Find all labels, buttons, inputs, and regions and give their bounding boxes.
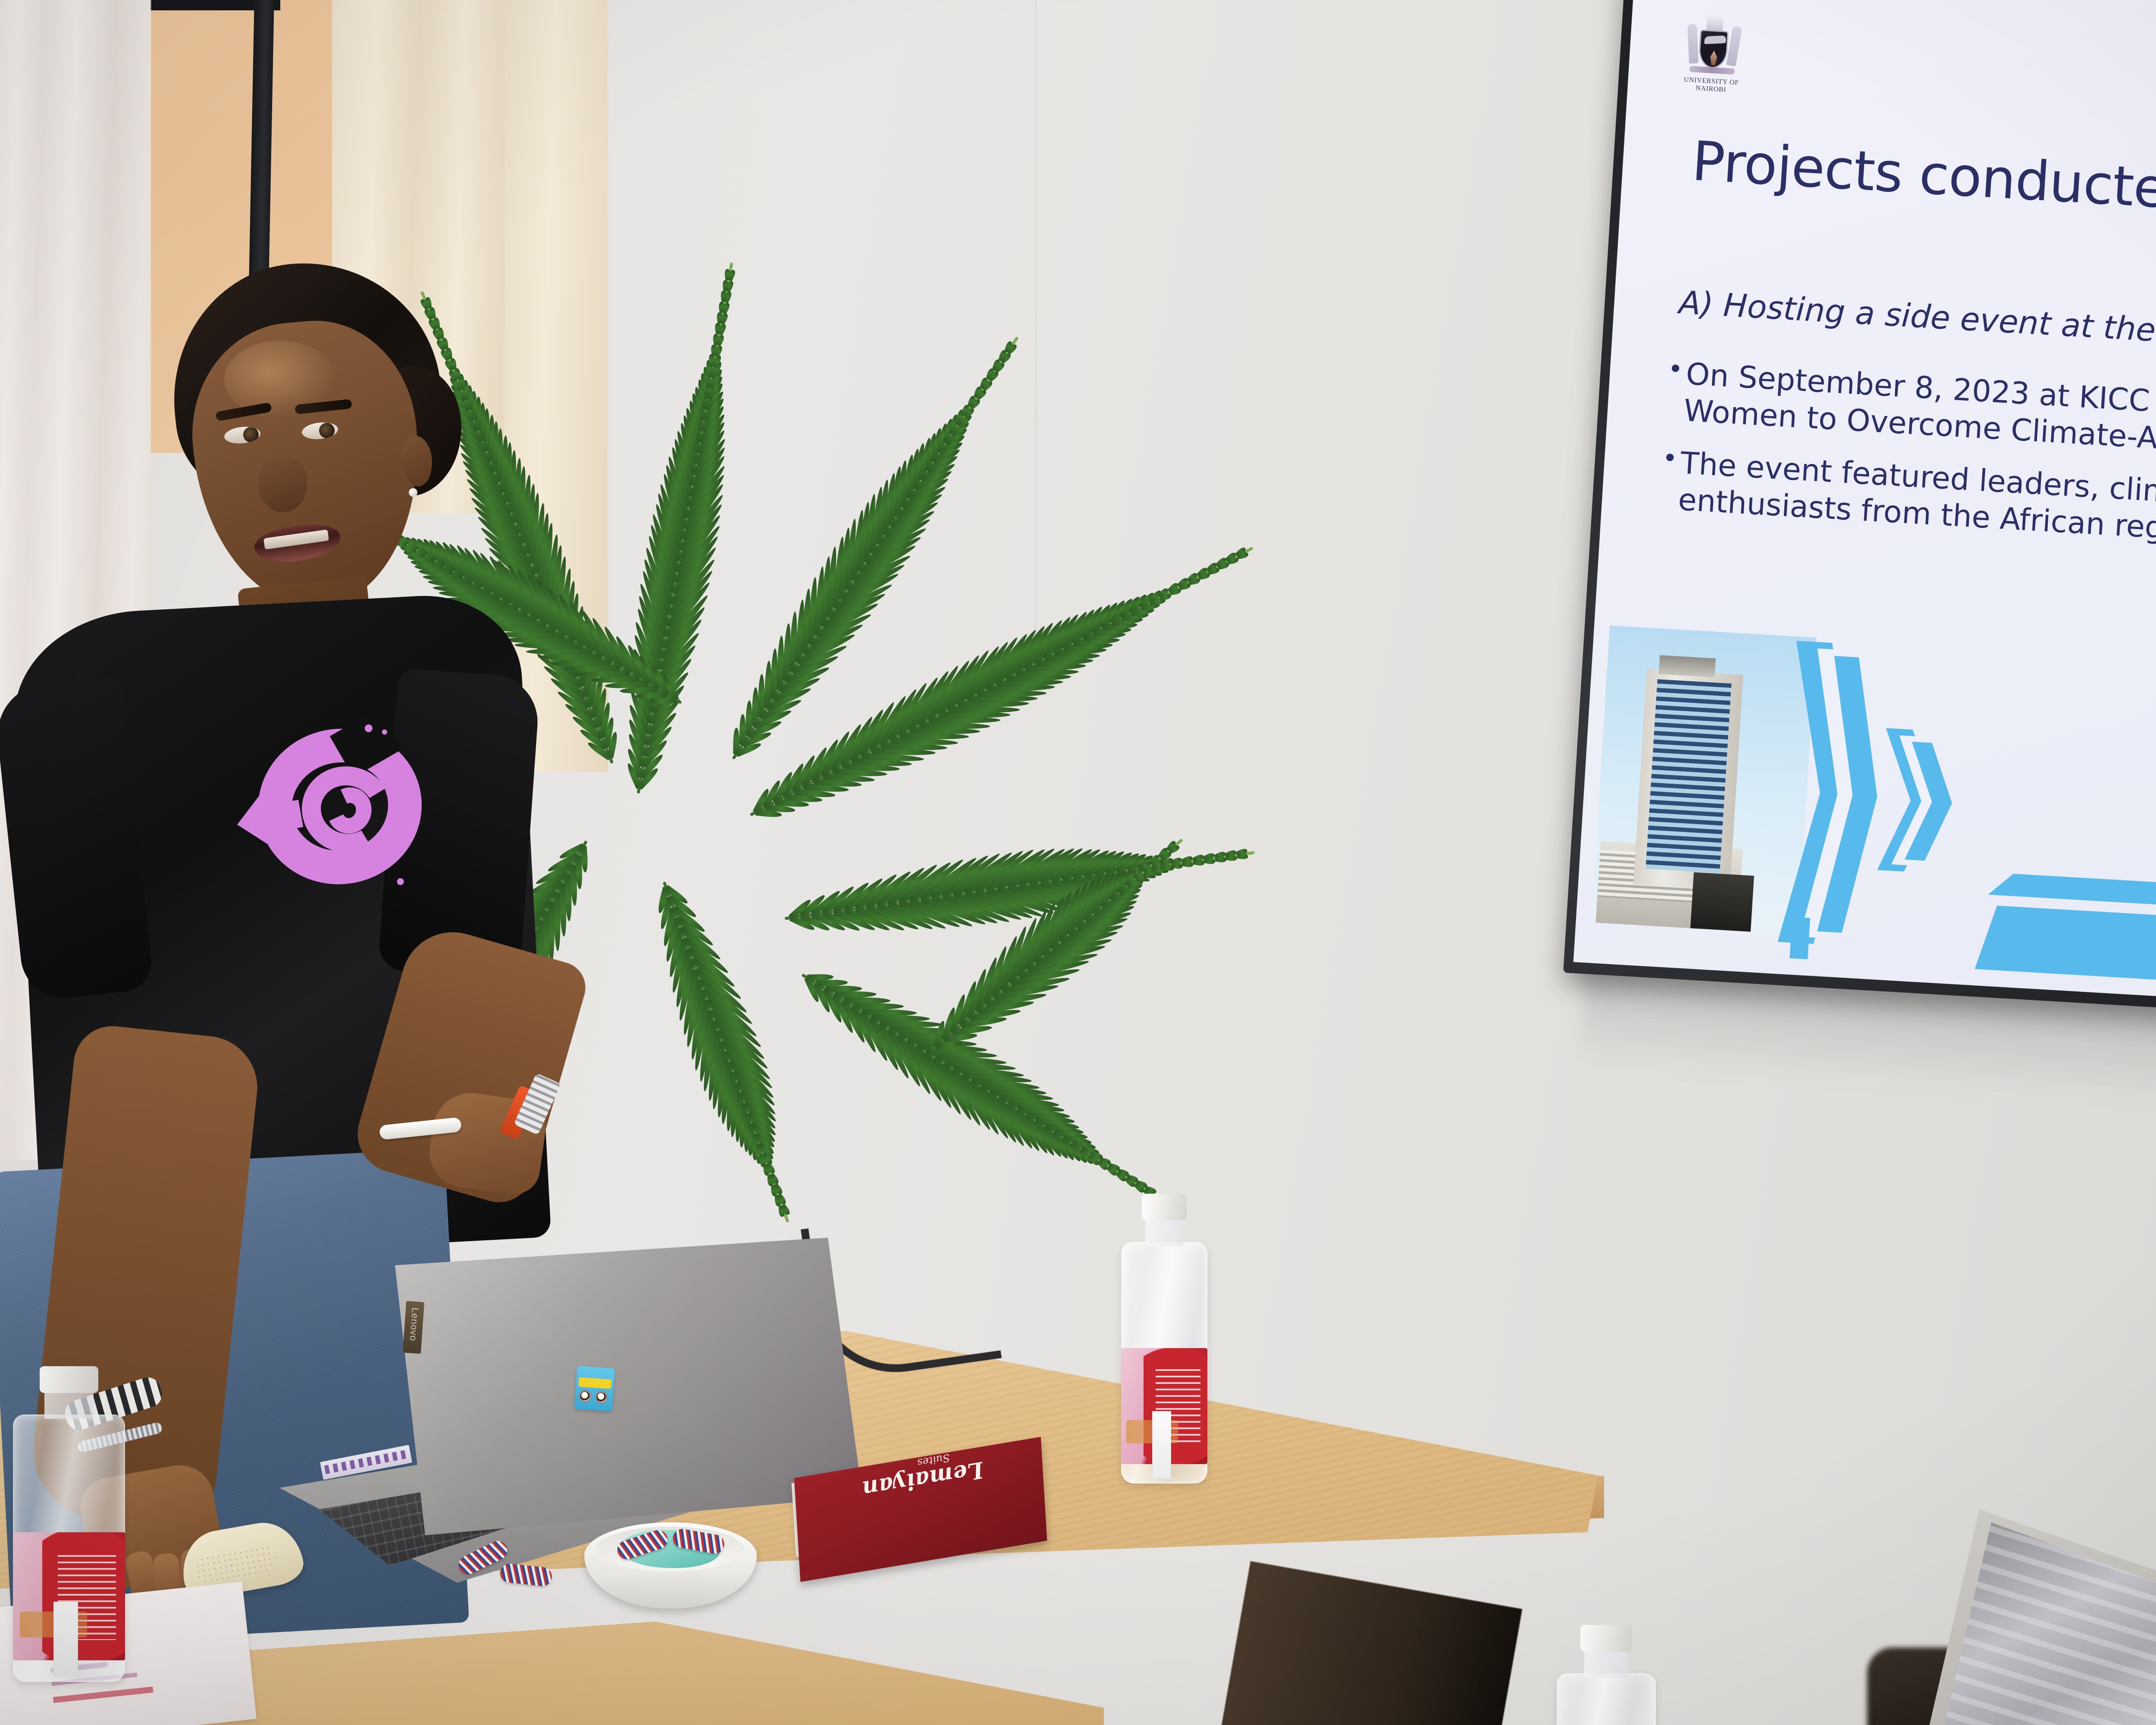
presentation-slide: UNIVERSITY OF NAIROBI Projects conducted… — [1573, 0, 2156, 1020]
nose — [259, 457, 307, 512]
bullet-marker: • — [1661, 444, 1676, 518]
wall-mounted-tv[interactable]: UNIVERSITY OF NAIROBI Projects conducted… — [1563, 0, 2156, 1032]
bottle-cap — [40, 1366, 98, 1393]
slide-title: Projects conducted — [1690, 129, 2156, 223]
laptop-secondary-screen-content — [1936, 1518, 2156, 1725]
water-bottle-left[interactable] — [13, 1414, 125, 1682]
university-name: UNIVERSITY OF NAIROBI — [1678, 76, 1744, 95]
conference-room-scene: UNIVERSITY OF NAIROBI Projects conducted… — [0, 0, 2156, 1725]
minions-sticker — [574, 1366, 615, 1411]
bullet-text: On September 8, 2023 at KICC undeWomen t… — [1683, 356, 2156, 461]
water-bottle-foreground[interactable] — [1557, 1673, 1656, 1725]
bottle-batch-sticker — [53, 1602, 78, 1677]
slide-subtitle: A) Hosting a side event at the Africa C — [1678, 284, 2156, 357]
bottle-batch-sticker — [1152, 1411, 1171, 1479]
laptop-secondary[interactable] — [1927, 1509, 2156, 1725]
lenovo-brand-badge: Lenovo — [403, 1301, 424, 1354]
water-bottle-center[interactable] — [1121, 1242, 1207, 1483]
bottle-cap — [1142, 1194, 1187, 1220]
laptop-lid-reflection — [384, 1238, 862, 1535]
tshirt-logo-icon — [226, 700, 454, 921]
slide-bullet-list: • On September 8, 2023 at KICC undeWomen… — [1661, 355, 2156, 593]
bullet-text: The event featured leaders, climate exen… — [1677, 445, 2156, 552]
university-tower-building-photo — [1591, 625, 1816, 935]
list-item: • The event featured leaders, climate ex… — [1661, 444, 2156, 578]
pearl-earring — [409, 488, 417, 497]
bullet-marker: • — [1667, 355, 1681, 429]
bottle-cap — [1580, 1625, 1632, 1652]
slide-accent-bar — [1789, 917, 1810, 959]
university-crest-icon: UNIVERSITY OF NAIROBI — [1678, 12, 1748, 100]
lenovo-brand-label: Lenovo — [407, 1298, 421, 1351]
